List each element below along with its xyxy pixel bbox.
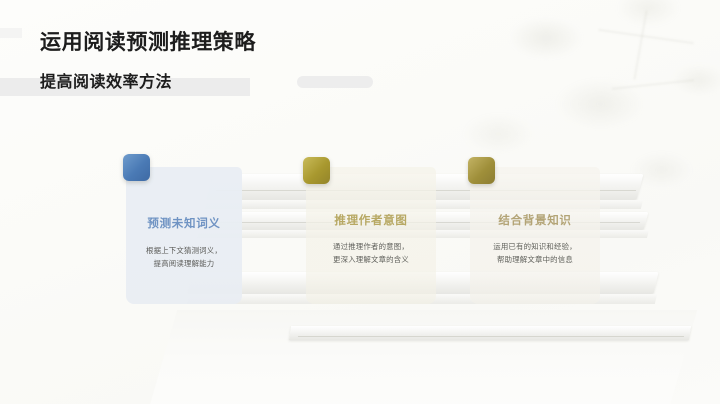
- card-2-body-line1: 通过推理作者的意图，: [306, 241, 436, 254]
- card-1-badge-icon: [123, 154, 150, 181]
- card-2-badge-icon: [303, 157, 330, 184]
- strategy-card-group: 预测未知词义 根据上下文猜测词义， 提高阅读理解能力 推理作者意图 通过推理作者…: [0, 0, 720, 404]
- card-2-body: 通过推理作者的意图， 更深入理解文章的含义: [306, 241, 436, 267]
- card-1-body-line2: 提高阅读理解能力: [126, 258, 242, 271]
- card-1-body: 根据上下文猜测词义， 提高阅读理解能力: [126, 245, 242, 271]
- card-2-heading: 推理作者意图: [306, 212, 436, 228]
- card-3-heading: 结合背景知识: [470, 212, 600, 228]
- strategy-card-2[interactable]: 推理作者意图 通过推理作者的意图， 更深入理解文章的含义: [306, 167, 436, 304]
- card-3-body-line2: 帮助理解文章中的信息: [470, 254, 600, 267]
- card-1-heading: 预测未知词义: [126, 215, 242, 231]
- card-2-body-line2: 更深入理解文章的含义: [306, 254, 436, 267]
- card-3-badge-icon: [468, 157, 495, 184]
- card-3-body-line1: 运用已有的知识和经验，: [470, 241, 600, 254]
- card-1-body-line1: 根据上下文猜测词义，: [126, 245, 242, 258]
- card-3-body: 运用已有的知识和经验， 帮助理解文章中的信息: [470, 241, 600, 267]
- slide-canvas: 运用阅读预测推理策略 提高阅读效率方法 预测未知词义 根据上下文猜测词义， 提高…: [0, 0, 720, 404]
- strategy-card-3[interactable]: 结合背景知识 运用已有的知识和经验， 帮助理解文章中的信息: [470, 167, 600, 304]
- strategy-card-1[interactable]: 预测未知词义 根据上下文猜测词义， 提高阅读理解能力: [126, 167, 242, 304]
